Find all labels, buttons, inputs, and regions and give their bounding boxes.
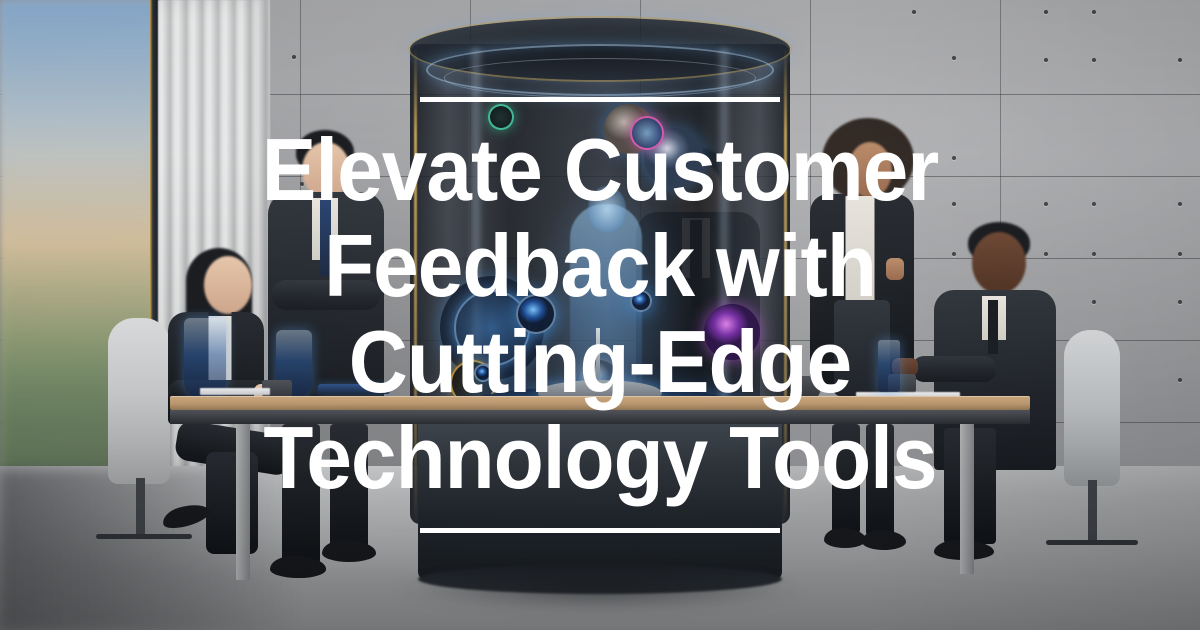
banner-canvas: Elevate Customer Feedback with Cutting-E…: [0, 0, 1200, 630]
page-title: Elevate Customer Feedback with Cutting-E…: [135, 122, 1065, 506]
headline-overlay: Elevate Customer Feedback with Cutting-E…: [0, 0, 1200, 630]
top-divider-rule: [420, 97, 780, 102]
bottom-divider-rule: [420, 528, 780, 533]
